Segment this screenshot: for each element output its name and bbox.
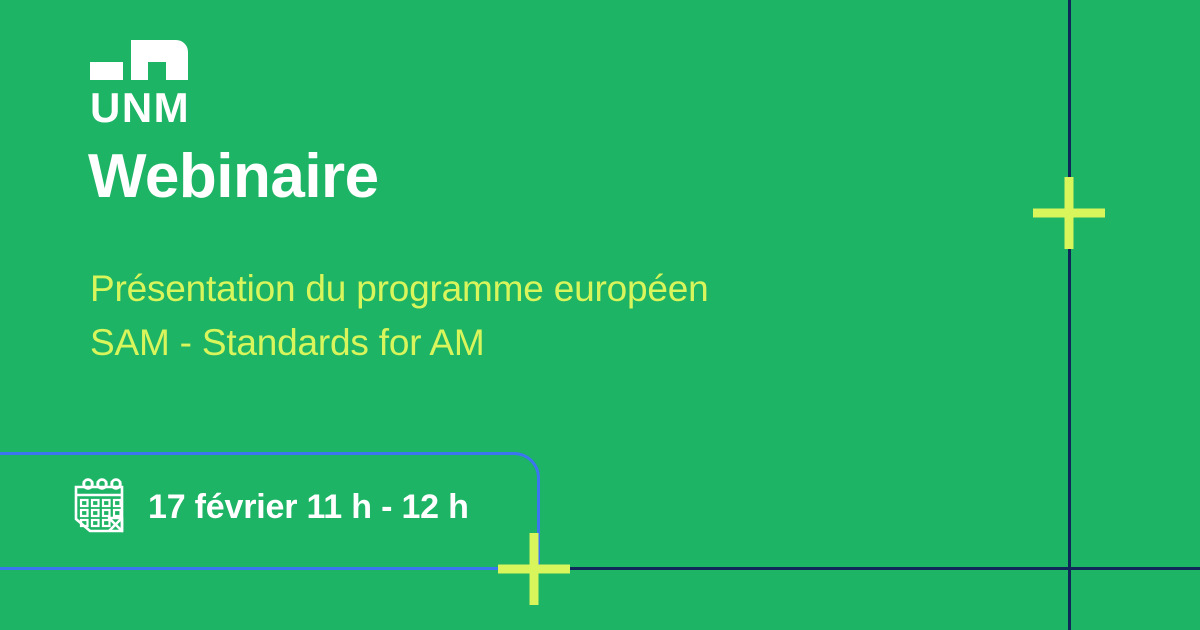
page-title: Webinaire (88, 144, 379, 209)
event-date-row: 17 février 11 h - 12 h (72, 478, 469, 536)
unm-logo: UNM (90, 40, 190, 129)
calendar-icon (72, 478, 126, 536)
unm-stepped-mark-icon (90, 40, 188, 80)
subtitle-line-1: Présentation du programme européen (90, 262, 708, 316)
banner-subtitle: Présentation du programme européen SAM -… (90, 262, 708, 369)
unm-wordmark: UNM (90, 87, 190, 129)
banner-content: UNM Webinaire Présentation du programme … (0, 0, 1200, 630)
subtitle-line-2: SAM - Standards for AM (90, 316, 708, 370)
webinar-banner: UNM Webinaire Présentation du programme … (0, 0, 1200, 630)
event-date-text: 17 février 11 h - 12 h (148, 488, 469, 527)
